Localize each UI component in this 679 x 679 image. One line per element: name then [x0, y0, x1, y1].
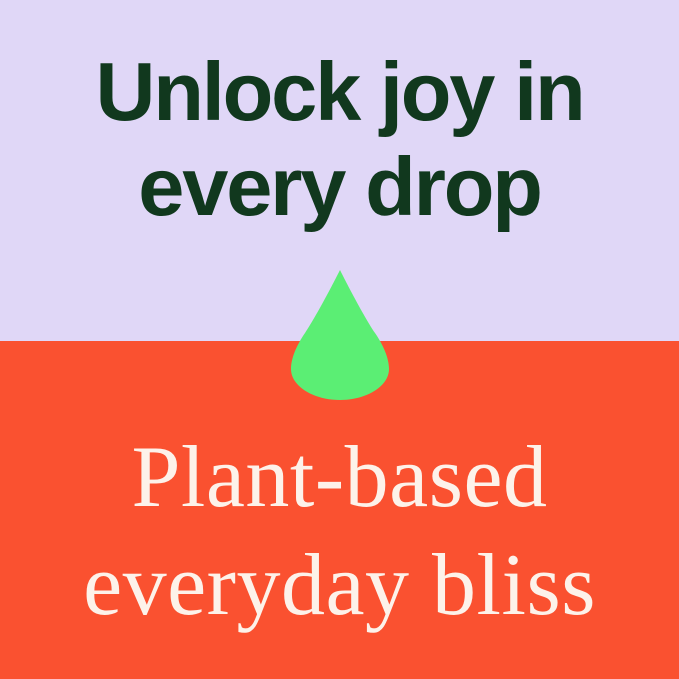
bottom-headline-line-1: Plant-based — [131, 424, 547, 532]
top-headline-line-2: every drop — [138, 139, 540, 234]
top-headline-block: Unlock joy in every drop — [0, 0, 679, 250]
water-droplet-icon — [291, 270, 389, 400]
top-headline-line-1: Unlock joy in — [96, 44, 584, 139]
bottom-headline-line-2: everyday bliss — [83, 532, 596, 640]
bottom-headline-block: Plant-based everyday bliss — [0, 424, 679, 640]
promo-poster: Unlock joy in every drop Plant-based eve… — [0, 0, 679, 679]
